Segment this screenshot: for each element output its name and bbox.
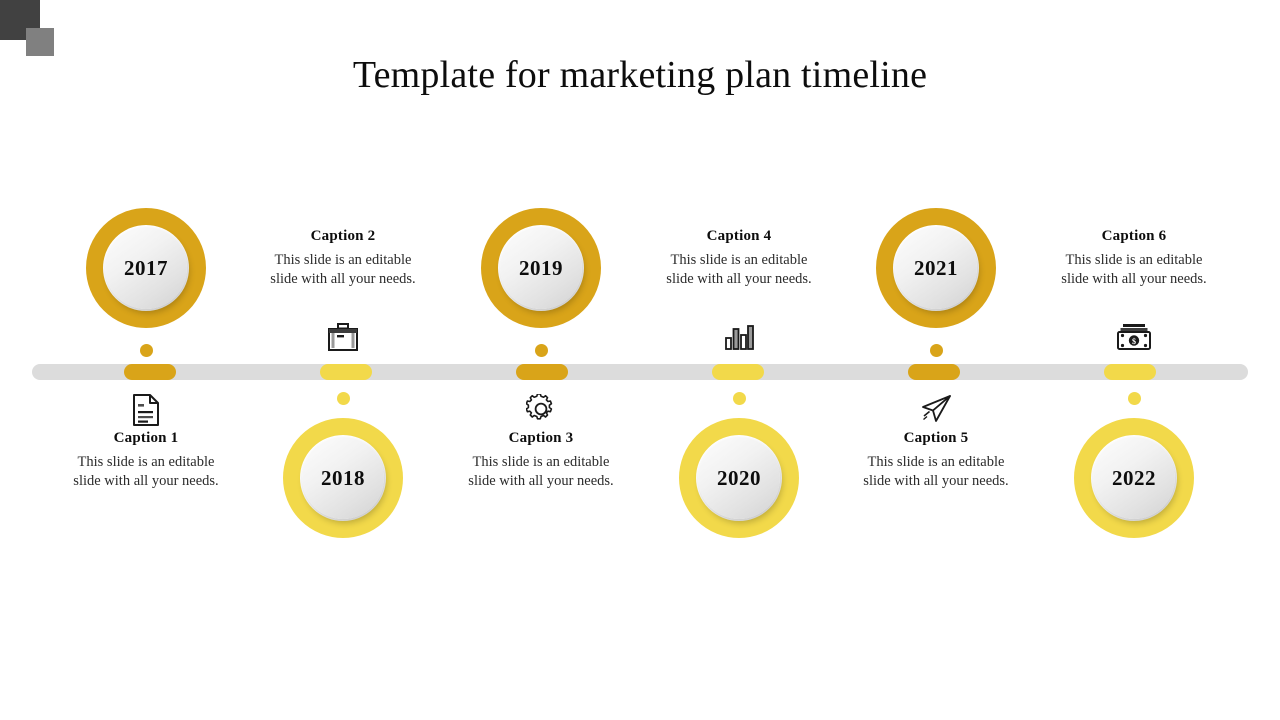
timeline-segment-1 <box>124 364 176 380</box>
caption-block-6: Caption 6 This slide is an editable slid… <box>1024 228 1244 288</box>
timeline-segment-2 <box>320 364 372 380</box>
caption-body-5: This slide is an editable slide with all… <box>856 453 1016 490</box>
caption-title-6: Caption 6 <box>1024 228 1244 245</box>
caption-block-4: Caption 4 This slide is an editable slid… <box>629 228 849 288</box>
year-marker-2020[interactable]: 2020 <box>679 418 799 538</box>
year-inner-disc-2022: 2022 <box>1093 437 1175 519</box>
caption-body-1: This slide is an editable slide with all… <box>66 453 226 490</box>
connector-dot-2019 <box>535 344 548 357</box>
caption-block-3: Caption 3 This slide is an editable slid… <box>431 430 651 490</box>
timeline-segment-6 <box>1104 364 1156 380</box>
caption-block-1: Caption 1 This slide is an editable slid… <box>36 430 256 490</box>
icon-holder-6: $ <box>1024 322 1244 352</box>
year-label-2018: 2018 <box>321 466 365 491</box>
year-inner-disc-2018: 2018 <box>302 437 384 519</box>
year-marker-2019[interactable]: 2019 <box>481 208 601 328</box>
timeline-segment-4 <box>712 364 764 380</box>
caption-title-1: Caption 1 <box>36 430 256 447</box>
caption-title-3: Caption 3 <box>431 430 651 447</box>
connector-dot-2021 <box>930 344 943 357</box>
gear-icon <box>526 394 556 424</box>
caption-title-4: Caption 4 <box>629 228 849 245</box>
timeline-node-2017[interactable]: 2017 <box>36 208 256 328</box>
year-marker-2017[interactable]: 2017 <box>86 208 206 328</box>
page-title: Template for marketing plan timeline <box>0 55 1280 97</box>
year-marker-2021[interactable]: 2021 <box>876 208 996 328</box>
timeline-node-2019[interactable]: 2019 <box>431 208 651 328</box>
document-icon <box>131 393 161 427</box>
timeline-bar <box>32 364 1248 380</box>
year-inner-disc-2017: 2017 <box>105 227 187 309</box>
caption-block-5: Caption 5 This slide is an editable slid… <box>826 430 1046 490</box>
icon-holder-2 <box>233 322 453 352</box>
caption-title-5: Caption 5 <box>826 430 1046 447</box>
briefcase-icon <box>327 322 359 352</box>
icon-holder-4 <box>629 323 849 351</box>
year-inner-disc-2021: 2021 <box>895 227 977 309</box>
timeline-node-2021[interactable]: 2021 <box>826 208 1046 328</box>
paper-plane-icon <box>920 394 952 424</box>
connector-dot-2020 <box>733 392 746 405</box>
year-marker-2018[interactable]: 2018 <box>283 418 403 538</box>
timeline-node-2018[interactable]: 2018 <box>233 418 453 538</box>
timeline-segment-3 <box>516 364 568 380</box>
year-label-2019: 2019 <box>519 256 563 281</box>
svg-text:$: $ <box>1132 337 1136 346</box>
year-label-2022: 2022 <box>1112 466 1156 491</box>
caption-body-3: This slide is an editable slide with all… <box>461 453 621 490</box>
icon-holder-3 <box>431 394 651 424</box>
caption-block-2: Caption 2 This slide is an editable slid… <box>233 228 453 288</box>
timeline-segment-5 <box>908 364 960 380</box>
connector-dot-2017 <box>140 344 153 357</box>
caption-body-2: This slide is an editable slide with all… <box>263 251 423 288</box>
connector-dot-2018 <box>337 392 350 405</box>
year-inner-disc-2019: 2019 <box>500 227 582 309</box>
timeline-node-2022[interactable]: 2022 <box>1024 418 1244 538</box>
corner-decor-light-square <box>26 28 54 56</box>
caption-body-6: This slide is an editable slide with all… <box>1054 251 1214 288</box>
year-label-2017: 2017 <box>124 256 168 281</box>
year-marker-2022[interactable]: 2022 <box>1074 418 1194 538</box>
bar-chart-icon <box>724 323 754 351</box>
caption-body-4: This slide is an editable slide with all… <box>659 251 819 288</box>
icon-holder-5 <box>826 394 1046 424</box>
connector-dot-2022 <box>1128 392 1141 405</box>
icon-holder-1 <box>36 393 256 427</box>
year-label-2021: 2021 <box>914 256 958 281</box>
year-inner-disc-2020: 2020 <box>698 437 780 519</box>
money-icon: $ <box>1116 322 1152 352</box>
caption-title-2: Caption 2 <box>233 228 453 245</box>
timeline-node-2020[interactable]: 2020 <box>629 418 849 538</box>
year-label-2020: 2020 <box>717 466 761 491</box>
